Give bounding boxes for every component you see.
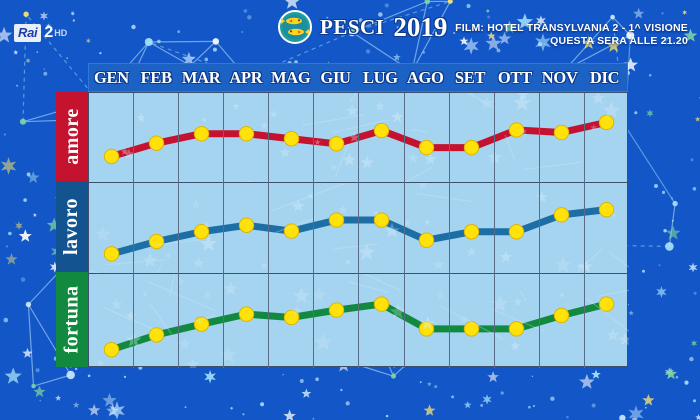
panel-texture [89,274,629,368]
chart-panel-fortuna [89,273,629,368]
month-header-nov: NOV [537,64,582,91]
zodiac-sign-title: PESCI 2019 [277,8,447,46]
category-label-amore-text: amore [61,108,84,165]
month-header-ott: OTT [492,64,537,91]
month-header-gen: GEN [89,64,134,91]
zodiac-year: 2019 [393,12,447,43]
chart-panel-lavoro [89,182,629,273]
month-header-strip: GENFEBMARAPRMAGGIULUGAGOSETOTTNOVDIC [88,63,628,92]
chart-panel-amore [89,93,629,182]
category-label-lavoro: lavoro [56,181,88,272]
month-header-lug: LUG [358,64,403,91]
category-label-amore: amore [56,92,88,181]
category-label-column: amore lavoro fortuna [56,92,88,367]
month-header-giu: GIU [313,64,358,91]
promo-text: FILM: HOTEL TRANSYLVANIA 2 - 1^ VISIONE … [455,22,688,48]
month-header-apr: APR [223,64,268,91]
rai-channel-number: 2 [44,25,53,41]
category-label-fortuna-text: fortuna [61,286,84,354]
horoscope-chart [88,92,628,367]
month-header-ago: AGO [403,64,448,91]
month-header-mar: MAR [179,64,224,91]
rai-hd-badge: HD [54,25,67,41]
category-label-fortuna: fortuna [56,272,88,367]
promo-line-2: QUESTA SERA ALLE 21.20 [455,35,688,48]
month-header-set: SET [448,64,493,91]
panel-texture [89,183,629,273]
header-bar: Rai 2 HD PESCI 2019 FILM: HOTEL TRANSYLV… [0,0,700,60]
rai-channel-logo: Rai 2 HD [14,22,67,44]
rai-logo-text: Rai [14,24,41,42]
pisces-zodiac-icon [277,9,313,45]
month-header-mag: MAG [268,64,313,91]
category-label-lavoro-text: lavoro [61,198,84,255]
panel-texture [89,93,629,182]
month-header-dic: DIC [582,64,627,91]
month-header-feb: FEB [134,64,179,91]
zodiac-sign-name: PESCI [320,15,384,40]
promo-line-1: FILM: HOTEL TRANSYLVANIA 2 - 1^ VISIONE [455,22,688,35]
